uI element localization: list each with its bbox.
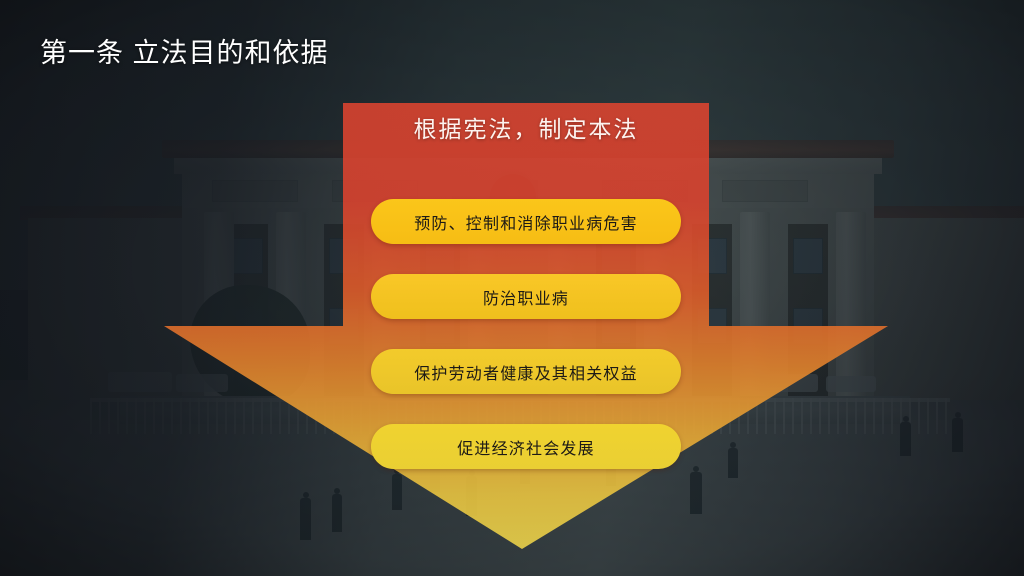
list-item[interactable]: 促进经济社会发展: [371, 424, 681, 469]
headline-text: 根据宪法，制定本法: [343, 113, 709, 145]
list-item-label: 防治职业病: [483, 285, 569, 309]
list-item[interactable]: 防治职业病: [371, 274, 681, 319]
list-item[interactable]: 保护劳动者健康及其相关权益: [371, 349, 681, 394]
list-item[interactable]: 预防、控制和消除职业病危害: [371, 199, 681, 244]
page-title: 第一条 立法目的和依据: [40, 36, 329, 70]
list-item-label: 促进经济社会发展: [457, 435, 595, 459]
list-item-label: 预防、控制和消除职业病危害: [414, 210, 638, 234]
list-item-label: 保护劳动者健康及其相关权益: [414, 360, 638, 384]
slide: 第一条 立法目的和依据 根据宪法，制定本法 预防、控制和消除职业病危害 防治职业…: [0, 0, 1024, 576]
